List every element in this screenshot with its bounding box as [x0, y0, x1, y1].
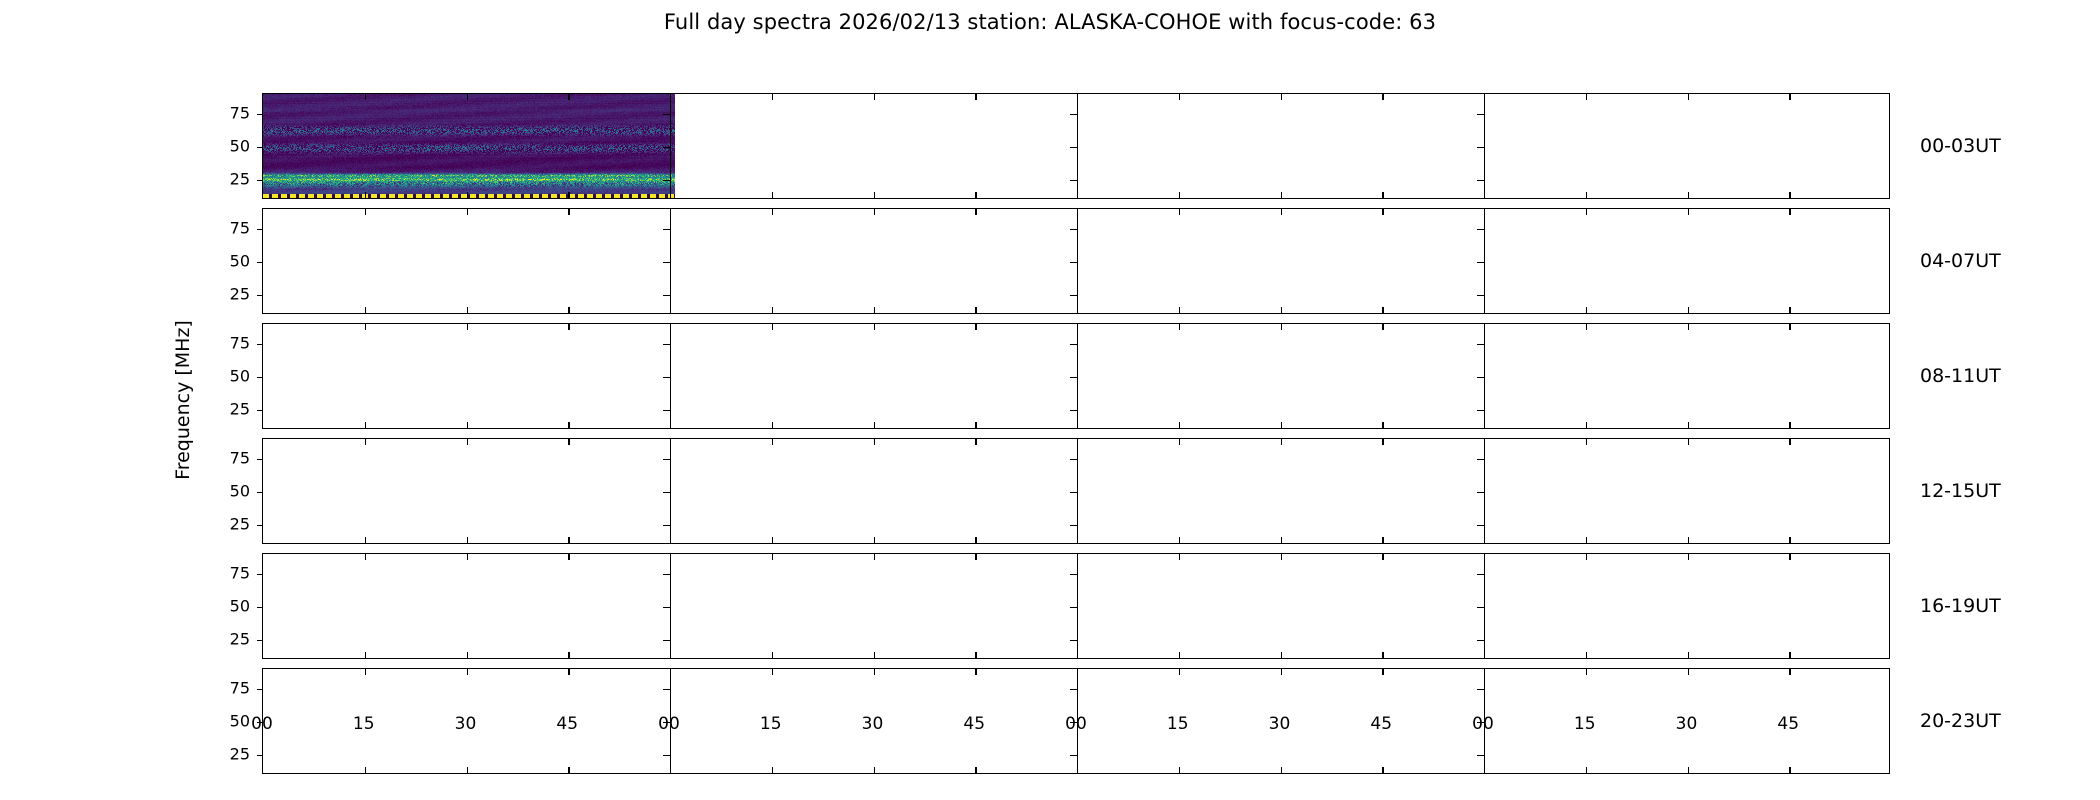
x-axis-tick	[568, 307, 569, 313]
y-axis-tick-interior	[663, 229, 670, 230]
x-axis-tick	[467, 652, 468, 658]
x-axis-tick	[874, 422, 875, 428]
x-axis-tick	[1179, 192, 1180, 198]
y-axis-tick-interior	[663, 640, 670, 641]
x-axis-tick	[772, 422, 773, 428]
y-axis-tick-label: 75	[230, 103, 250, 122]
x-axis-tick	[1789, 652, 1790, 658]
y-axis-tick-label: 50	[230, 597, 250, 616]
y-axis-tick-interior	[1070, 295, 1077, 296]
x-axis-tick	[874, 652, 875, 658]
x-axis-tick	[1382, 422, 1383, 428]
spectrogram-panel	[262, 208, 1890, 314]
x-axis-tick	[1179, 439, 1180, 445]
y-axis-tick-interior	[1070, 755, 1077, 756]
x-axis-tick	[975, 554, 976, 560]
x-axis-tick	[1382, 192, 1383, 198]
hour-separator-line	[1077, 94, 1078, 198]
y-axis-tick-interior	[663, 377, 670, 378]
x-axis-tick-label: 30	[1269, 714, 1291, 734]
hour-separator-line	[1484, 209, 1485, 313]
y-axis-tick-label: 50	[230, 137, 250, 156]
x-axis-tick	[1281, 537, 1282, 543]
y-axis-tick-interior	[1070, 459, 1077, 460]
x-axis-tick	[874, 192, 875, 198]
x-axis-tick-label: 30	[455, 714, 477, 734]
x-axis-tick	[874, 537, 875, 543]
x-axis-tick	[1789, 422, 1790, 428]
x-axis-tick-label: 15	[1167, 714, 1189, 734]
x-axis-tick	[1586, 94, 1587, 100]
x-axis-tick	[568, 94, 569, 100]
x-axis-tick	[975, 767, 976, 773]
y-axis-tick-label: 25	[230, 170, 250, 189]
y-axis-tick-label: 25	[230, 285, 250, 304]
spectrogram-panel	[262, 93, 1890, 199]
x-axis-tick	[467, 94, 468, 100]
hour-separator-line	[670, 439, 671, 543]
y-axis-tick-label: 75	[230, 563, 250, 582]
x-axis-tick	[1586, 554, 1587, 560]
y-axis-tick-interior	[663, 607, 670, 608]
hour-separator-line	[1077, 209, 1078, 313]
y-axis-tick-label: 25	[230, 400, 250, 419]
x-axis-tick	[975, 192, 976, 198]
x-axis-tick	[467, 422, 468, 428]
hour-separator-line	[1484, 554, 1485, 658]
x-axis-tick	[467, 669, 468, 675]
x-axis-tick	[1789, 94, 1790, 100]
y-axis-tick-label: 75	[230, 678, 250, 697]
x-axis-tick	[467, 192, 468, 198]
x-axis-tick	[1789, 767, 1790, 773]
panel-ut-range-label: 08-11UT	[1920, 365, 2001, 387]
x-axis-tick	[365, 422, 366, 428]
x-axis-tick	[1281, 439, 1282, 445]
y-axis-tick-interior	[663, 492, 670, 493]
x-axis-tick	[568, 554, 569, 560]
x-axis-tick	[1179, 209, 1180, 215]
y-axis-tick-interior	[1477, 607, 1484, 608]
y-axis-tick-interior	[1477, 295, 1484, 296]
x-axis-tick	[1688, 554, 1689, 560]
x-axis-tick	[568, 209, 569, 215]
x-axis-tick	[874, 767, 875, 773]
x-axis-tick-label: 00	[1065, 714, 1087, 734]
x-axis-tick	[365, 554, 366, 560]
spectrogram-canvas	[263, 94, 675, 198]
x-axis-tick	[1586, 652, 1587, 658]
x-axis-tick	[1586, 422, 1587, 428]
hour-separator-line	[670, 324, 671, 428]
x-axis-tick	[568, 537, 569, 543]
y-axis-tick-label: 75	[230, 448, 250, 467]
hour-separator-line	[670, 94, 671, 198]
y-axis-tick-interior	[663, 180, 670, 181]
panel-plot-area	[263, 554, 1889, 658]
x-axis-tick	[1688, 94, 1689, 100]
y-axis-tick-label: 25	[230, 515, 250, 534]
y-axis-tick-interior	[663, 459, 670, 460]
x-axis-tick	[1586, 209, 1587, 215]
x-axis-tick	[1688, 652, 1689, 658]
y-axis-tick-interior	[1477, 574, 1484, 575]
x-axis-tick	[1179, 537, 1180, 543]
x-axis-tick	[365, 669, 366, 675]
y-axis-tick-interior	[1070, 525, 1077, 526]
x-axis-tick-label: 00	[658, 714, 680, 734]
y-axis-tick-interior	[1477, 147, 1484, 148]
x-axis-tick	[772, 669, 773, 675]
y-axis-tick-interior	[1477, 180, 1484, 181]
y-axis-tick-interior	[1070, 640, 1077, 641]
x-axis-tick	[1382, 767, 1383, 773]
y-axis-tick-interior	[663, 755, 670, 756]
x-axis-tick-label: 45	[1370, 714, 1392, 734]
x-axis-tick	[1382, 439, 1383, 445]
x-axis-tick	[568, 767, 569, 773]
panel-ut-range-label: 16-19UT	[1920, 595, 2001, 617]
y-axis-tick-interior	[663, 295, 670, 296]
hour-separator-line	[1077, 439, 1078, 543]
x-axis-tick	[1179, 94, 1180, 100]
panel-plot-area	[263, 94, 1889, 198]
y-axis-tick-interior	[663, 574, 670, 575]
y-axis-tick-interior	[1070, 262, 1077, 263]
x-axis-tick	[1382, 554, 1383, 560]
x-axis-tick	[1789, 307, 1790, 313]
y-axis-tick-interior	[1477, 229, 1484, 230]
x-axis-tick	[365, 94, 366, 100]
x-axis-tick	[772, 554, 773, 560]
x-axis-tick	[365, 324, 366, 330]
x-axis-tick-label: 30	[1676, 714, 1698, 734]
hour-separator-line	[1484, 324, 1485, 428]
y-axis-tick-interior	[1477, 755, 1484, 756]
x-axis-tick	[874, 554, 875, 560]
x-axis-tick	[975, 307, 976, 313]
x-axis-tick	[1281, 767, 1282, 773]
x-axis-tick-label: 45	[556, 714, 578, 734]
x-axis-tick-label: 30	[862, 714, 884, 734]
x-axis-tick	[1789, 209, 1790, 215]
panel-ut-range-label: 12-15UT	[1920, 480, 2001, 502]
x-axis-tick-label: 00	[251, 714, 273, 734]
x-axis-tick	[1179, 554, 1180, 560]
x-axis-tick	[568, 192, 569, 198]
y-axis-tick-interior	[1477, 344, 1484, 345]
panel-plot-area	[263, 324, 1889, 428]
x-axis-tick	[1281, 192, 1282, 198]
x-axis-tick	[1281, 669, 1282, 675]
x-axis-tick	[1382, 324, 1383, 330]
x-axis-tick	[1688, 669, 1689, 675]
x-axis-tick	[568, 669, 569, 675]
x-axis-tick	[568, 439, 569, 445]
y-axis-tick-interior	[1070, 607, 1077, 608]
y-axis-tick-interior	[663, 262, 670, 263]
x-axis-tick	[1586, 192, 1587, 198]
x-axis-tick	[365, 209, 366, 215]
x-axis-tick	[1179, 767, 1180, 773]
y-axis-tick-label: 50	[230, 482, 250, 501]
y-axis-tick-label: 75	[230, 218, 250, 237]
x-axis-tick	[1789, 192, 1790, 198]
x-axis-tick-label: 45	[1777, 714, 1799, 734]
y-axis-tick-interior	[1477, 459, 1484, 460]
x-axis-tick	[772, 652, 773, 658]
y-axis-tick-interior	[1477, 410, 1484, 411]
x-axis-tick	[1281, 554, 1282, 560]
x-axis-tick	[467, 537, 468, 543]
x-axis-tick	[975, 439, 976, 445]
x-axis-tick-label: 15	[1574, 714, 1596, 734]
x-axis-tick	[1688, 439, 1689, 445]
y-axis-tick-interior	[663, 410, 670, 411]
y-axis-tick-labels: 755025	[206, 208, 250, 314]
x-axis-tick	[975, 94, 976, 100]
x-axis-tick	[772, 94, 773, 100]
x-axis-tick	[1688, 307, 1689, 313]
x-axis-tick	[568, 652, 569, 658]
y-axis-tick-label: 25	[230, 630, 250, 649]
y-axis-tick-label: 25	[230, 745, 250, 764]
x-axis-tick	[1281, 324, 1282, 330]
x-axis-tick	[365, 767, 366, 773]
panel-ut-range-label: 00-03UT	[1920, 135, 2001, 157]
x-axis-tick	[975, 669, 976, 675]
x-axis-tick	[1688, 537, 1689, 543]
y-axis-tick-interior	[1070, 377, 1077, 378]
y-axis-tick-interior	[1477, 114, 1484, 115]
x-axis-tick	[772, 307, 773, 313]
y-axis-tick-interior	[1070, 689, 1077, 690]
x-axis-tick	[1688, 324, 1689, 330]
x-axis-tick	[1789, 439, 1790, 445]
x-axis-tick	[1789, 324, 1790, 330]
x-axis-tick	[1179, 307, 1180, 313]
x-axis-tick	[1586, 439, 1587, 445]
x-axis-tick	[1688, 192, 1689, 198]
x-axis-tick	[467, 209, 468, 215]
x-axis-tick	[1382, 307, 1383, 313]
x-axis-tick	[874, 439, 875, 445]
x-axis-tick	[772, 209, 773, 215]
y-axis-tick-label: 50	[230, 252, 250, 271]
x-axis-tick	[874, 94, 875, 100]
x-axis-tick	[1586, 307, 1587, 313]
hour-separator-line	[1077, 324, 1078, 428]
x-axis-tick	[365, 652, 366, 658]
x-axis-tick	[975, 209, 976, 215]
x-axis-tick	[467, 439, 468, 445]
y-axis-tick-interior	[1070, 574, 1077, 575]
x-axis-tick-labels: 00153045001530450015304500153045	[0, 714, 2100, 740]
hour-separator-line	[1484, 94, 1485, 198]
x-axis-tick	[975, 422, 976, 428]
x-axis-tick	[365, 537, 366, 543]
x-axis-tick	[975, 324, 976, 330]
x-axis-tick	[568, 422, 569, 428]
x-axis-tick	[568, 324, 569, 330]
x-axis-tick	[772, 324, 773, 330]
x-axis-tick	[467, 554, 468, 560]
x-axis-tick	[1688, 209, 1689, 215]
x-axis-tick	[1281, 209, 1282, 215]
x-axis-tick	[365, 307, 366, 313]
x-axis-tick	[772, 192, 773, 198]
y-axis-title: Frequency [MHz]	[172, 320, 194, 480]
x-axis-tick	[772, 439, 773, 445]
y-axis-tick-interior	[663, 525, 670, 526]
spectrogram-panel	[262, 438, 1890, 544]
x-axis-tick	[772, 767, 773, 773]
y-axis-tick-interior	[1070, 344, 1077, 345]
hour-separator-line	[1077, 554, 1078, 658]
x-axis-tick	[1179, 324, 1180, 330]
y-axis-tick-interior	[1477, 492, 1484, 493]
x-axis-tick	[1382, 94, 1383, 100]
hour-separator-line	[670, 554, 671, 658]
y-axis-tick-labels: 755025	[206, 93, 250, 199]
y-axis-tick-interior	[1070, 492, 1077, 493]
x-axis-tick	[1586, 669, 1587, 675]
y-axis-tick-interior	[1477, 525, 1484, 526]
x-axis-tick	[1281, 94, 1282, 100]
x-axis-tick	[1382, 209, 1383, 215]
x-axis-tick	[467, 324, 468, 330]
y-axis-tick-interior	[663, 344, 670, 345]
y-axis-tick-labels: 755025	[206, 323, 250, 429]
x-axis-tick	[874, 307, 875, 313]
y-axis-tick-interior	[1070, 147, 1077, 148]
x-axis-tick	[874, 209, 875, 215]
x-axis-tick	[1789, 554, 1790, 560]
y-axis-tick-interior	[1477, 262, 1484, 263]
spectrogram-figure: Frequency [MHz] 75502500-03UT75502504-07…	[0, 0, 2100, 800]
y-axis-tick-labels: 755025	[206, 553, 250, 659]
y-axis-tick-interior	[1477, 640, 1484, 641]
x-axis-tick	[1789, 669, 1790, 675]
y-axis-tick-interior	[1070, 410, 1077, 411]
x-axis-tick	[1586, 537, 1587, 543]
y-axis-tick-label: 50	[230, 367, 250, 386]
x-axis-tick	[365, 439, 366, 445]
y-axis-tick-interior	[1070, 114, 1077, 115]
spectrogram-panel	[262, 323, 1890, 429]
spectrogram-panel	[262, 553, 1890, 659]
x-axis-tick	[1382, 652, 1383, 658]
x-axis-tick	[1179, 422, 1180, 428]
panel-ut-range-label: 04-07UT	[1920, 250, 2001, 272]
x-axis-tick	[1281, 422, 1282, 428]
y-axis-tick-interior	[1070, 180, 1077, 181]
x-axis-tick	[467, 307, 468, 313]
hour-separator-line	[670, 209, 671, 313]
x-axis-tick	[874, 669, 875, 675]
x-axis-tick-label: 45	[963, 714, 985, 734]
x-axis-tick	[365, 192, 366, 198]
panel-plot-area	[263, 209, 1889, 313]
x-axis-tick	[1789, 537, 1790, 543]
x-axis-tick	[1586, 767, 1587, 773]
x-axis-tick	[1179, 669, 1180, 675]
x-axis-tick	[1688, 767, 1689, 773]
y-axis-tick-labels: 755025	[206, 438, 250, 544]
y-axis-tick-interior	[663, 689, 670, 690]
y-axis-tick-interior	[663, 114, 670, 115]
y-axis-tick-interior	[1477, 689, 1484, 690]
y-axis-tick-label: 75	[230, 333, 250, 352]
x-axis-tick	[772, 537, 773, 543]
y-axis-tick-interior	[1477, 377, 1484, 378]
x-axis-tick	[1281, 652, 1282, 658]
y-axis-tick-interior	[1070, 229, 1077, 230]
x-axis-tick	[1281, 307, 1282, 313]
x-axis-tick	[975, 652, 976, 658]
hour-separator-line	[1484, 439, 1485, 543]
x-axis-tick-label: 15	[353, 714, 375, 734]
y-axis-tick-interior	[663, 147, 670, 148]
spectrogram-image	[263, 94, 675, 198]
x-axis-tick	[1586, 324, 1587, 330]
x-axis-tick-label: 00	[1472, 714, 1494, 734]
x-axis-tick	[874, 324, 875, 330]
panel-plot-area	[263, 439, 1889, 543]
x-axis-tick	[1179, 652, 1180, 658]
x-axis-tick	[1382, 669, 1383, 675]
x-axis-tick	[467, 767, 468, 773]
x-axis-tick	[1382, 537, 1383, 543]
x-axis-tick	[1688, 422, 1689, 428]
x-axis-tick	[975, 537, 976, 543]
x-axis-tick-label: 15	[760, 714, 782, 734]
